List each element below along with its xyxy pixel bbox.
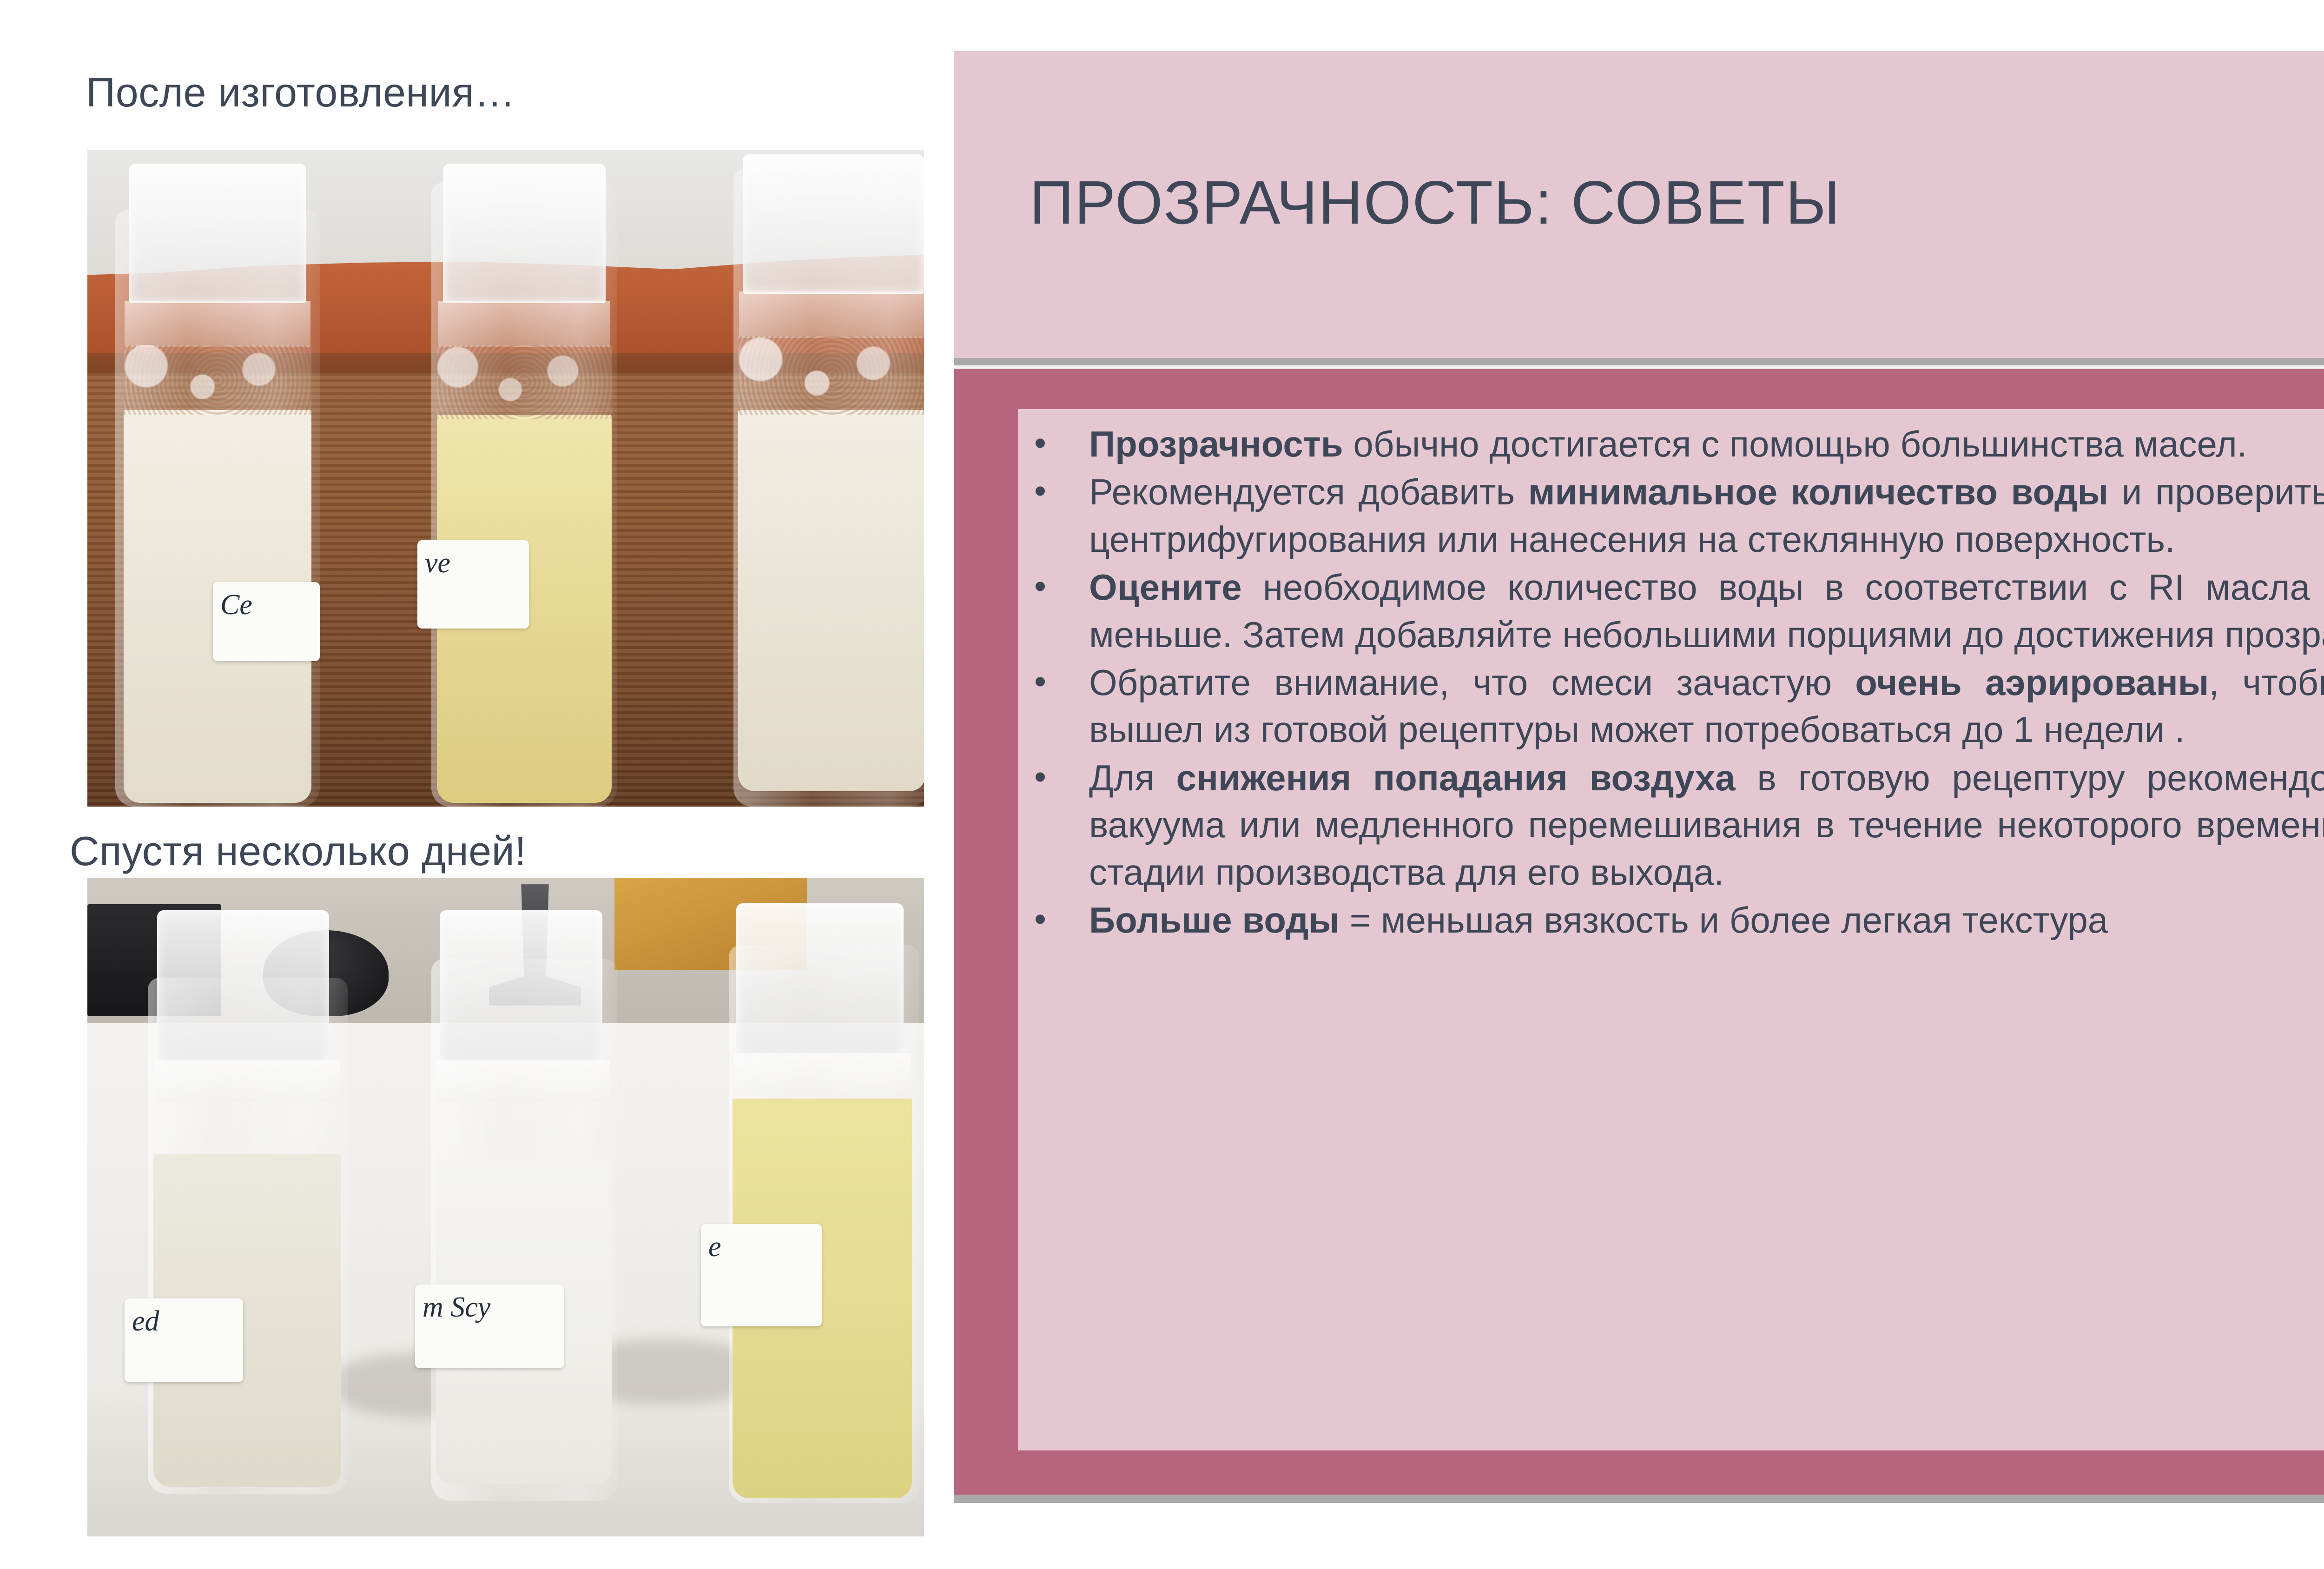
bottle-label-text: Ce (213, 582, 320, 619)
tip-bullet-item: •Обратите внимание, что смеси зачастую о… (1030, 659, 2324, 754)
bottle-label-text: e (701, 1224, 822, 1261)
tip-bullet-text: Обратите внимание, что смеси зачастую оч… (1089, 659, 2324, 754)
bottle-neck (154, 1060, 340, 1102)
bullet-marker-icon: • (1030, 469, 1089, 513)
bottle-cap (157, 910, 329, 1064)
caption-after-several-days: Спустя несколько дней! (70, 828, 526, 875)
tip-bullet-item: •Больше воды = меньшая вязкость и более … (1030, 897, 2324, 944)
bottle-foam-layer (124, 345, 311, 415)
bottle-label-text: ve (417, 540, 529, 577)
bottle-label-text: т Ѕcy (415, 1284, 564, 1322)
tips-bullet-list: •Прозрачность обычно достигается с помощ… (1030, 421, 2324, 945)
tip-bullet-text: Для снижения попадания воздуха в готовую… (1089, 755, 2324, 896)
bottle-right (733, 168, 924, 807)
bullet-marker-icon: • (1030, 421, 1089, 465)
tip-bullet-text: Оцените необходимое количество воды в со… (1089, 564, 2324, 658)
tip-bullet-text: Прозрачность обычно достигается с помощь… (1089, 421, 2324, 468)
bottle-cap (440, 910, 602, 1064)
bottle-cap (743, 154, 924, 294)
bottle-neck (437, 1060, 610, 1102)
bottle-label: ed (125, 1298, 243, 1382)
bottle-liquid (738, 410, 924, 791)
tip-bullet-text: Больше воды = меньшая вязкость и более л… (1089, 897, 2324, 944)
bullet-marker-icon: • (1030, 564, 1089, 609)
tip-bullet-item: •Оцените необходимое количество воды в с… (1030, 564, 2324, 658)
bottle-label-text: ed (125, 1298, 243, 1336)
tip-bullet-item: •Для снижения попадания воздуха в готову… (1030, 755, 2324, 896)
bottle-neck (438, 301, 610, 347)
bullet-marker-icon: • (1030, 659, 1089, 704)
bottle-neck (739, 291, 924, 338)
bottle-middle: т Ѕcy (431, 959, 617, 1501)
bottle-label: e (701, 1224, 822, 1326)
bottle-cap (443, 164, 606, 303)
bottle-label: т Ѕcy (415, 1284, 564, 1368)
bottle-neck (733, 1053, 911, 1095)
bottle-neck (125, 301, 310, 347)
bottle-cap (129, 164, 306, 303)
tip-bullet-text: Рекомендуется добавить минимальное колич… (1089, 469, 2324, 563)
caption-after-production: После изготовления… (86, 69, 515, 116)
slide-canvas: После изготовления… Ce ve (0, 0, 2324, 1569)
bottle-foam-layer (437, 345, 612, 419)
tip-bullet-item: •Рекомендуется добавить минимальное коли… (1030, 469, 2324, 563)
bottle-label: ve (417, 540, 529, 629)
bullet-marker-icon: • (1030, 897, 1089, 941)
content-panel-shadow (954, 1495, 2324, 1503)
bottle-label: Ce (213, 582, 320, 661)
bottle-middle: ve (431, 182, 617, 807)
bullet-marker-icon: • (1030, 755, 1089, 799)
bottle-left: Ce (115, 210, 320, 807)
title-divider-rule (954, 358, 2324, 365)
bottle-left: ed (148, 978, 348, 1494)
tip-bullet-item: •Прозрачность обычно достигается с помощ… (1030, 421, 2324, 468)
bottle-right: e (729, 945, 919, 1503)
photo-bottles-fresh: Ce ve (87, 150, 924, 807)
bottle-foam-layer (738, 336, 924, 415)
photo-bottles-aged: ed т Ѕcy e (87, 878, 924, 1536)
bottle-cap (736, 903, 904, 1057)
page-title: ПРОЗРАЧНОСТЬ: СОВЕТЫ (1030, 167, 1841, 238)
